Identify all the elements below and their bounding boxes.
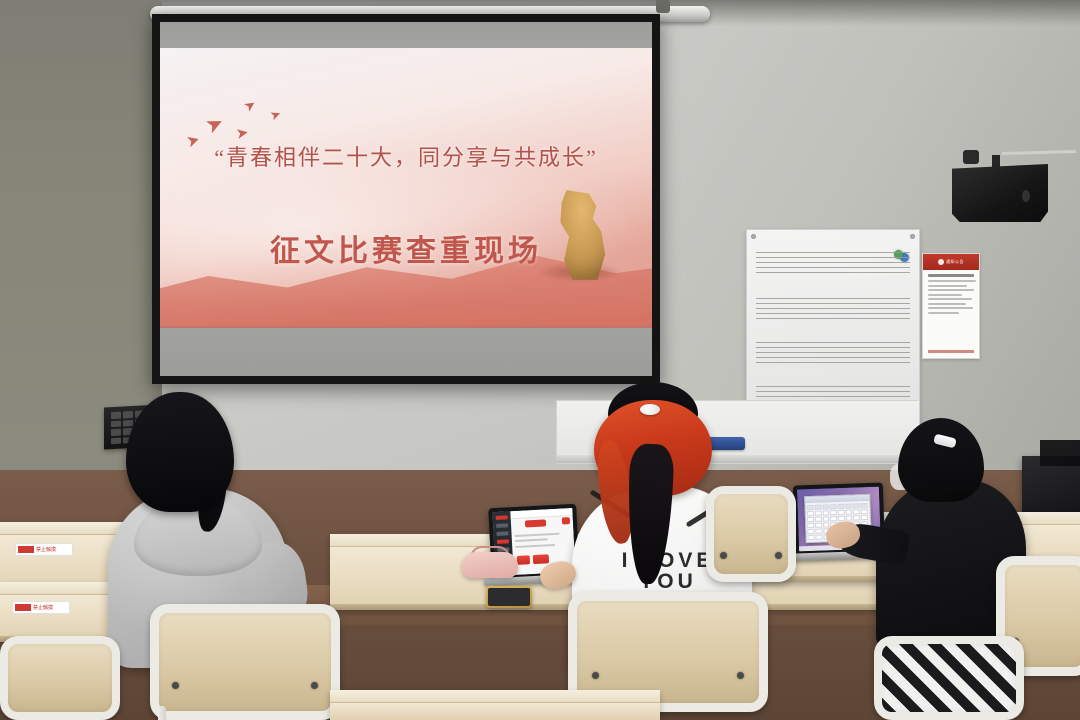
screen-surface: ➤ ➤ ➤ ➤ ➤ “青春相伴二十大，同分享与共成长” 征文比赛查重现场	[160, 22, 652, 376]
poster-logo-icon	[938, 259, 944, 265]
speaker-mount	[963, 150, 979, 164]
projected-slide: ➤ ➤ ➤ ➤ ➤ “青春相伴二十大，同分享与共成长” 征文比赛查重现场	[160, 48, 652, 326]
projector-screen: ➤ ➤ ➤ ➤ ➤ “青春相伴二十大，同分享与共成长” 征文比赛查重现场	[152, 14, 660, 384]
bird-icon: ➤	[202, 111, 227, 138]
desk-label: 禁止触摸	[15, 543, 73, 556]
screen-blank-top	[160, 22, 652, 48]
stave-group	[756, 298, 910, 323]
pink-pouch[interactable]	[462, 552, 518, 578]
classroom-photo: ➤ ➤ ➤ ➤ ➤ “青春相伴二十大，同分享与共成长” 征文比赛查重现场	[0, 0, 1080, 720]
web-action-button[interactable]	[517, 555, 530, 565]
poster-header-text: 通知公告	[946, 259, 964, 265]
desk-foreground	[330, 690, 660, 720]
speaker-cone	[1022, 190, 1030, 202]
board-screw	[751, 234, 756, 239]
web-badge[interactable]	[562, 517, 570, 524]
poster-title-bar	[928, 274, 974, 277]
phone-screen	[488, 588, 530, 606]
web-badge[interactable]	[525, 520, 546, 528]
wall-speaker	[952, 164, 1048, 222]
poster-header: 通知公告	[923, 254, 979, 270]
phone[interactable]	[486, 586, 532, 608]
hair-clip	[640, 404, 660, 415]
chair-front-left[interactable]	[0, 636, 120, 720]
poster-footer-bar	[928, 350, 974, 353]
slide-title: “青春相伴二十大，同分享与共成长”	[160, 140, 652, 172]
chair-left[interactable]	[150, 604, 340, 720]
bird-icon: ➤	[268, 106, 283, 122]
chair-leg	[158, 706, 166, 720]
wall-poster: 通知公告	[922, 253, 980, 359]
bird-icon: ➤	[241, 96, 259, 114]
stave-group	[756, 252, 910, 277]
chair-back-center[interactable]	[706, 486, 796, 582]
stave-group	[756, 342, 910, 367]
web-action-button[interactable]	[533, 554, 549, 564]
slide-subtitle: 征文比赛查重现场	[160, 226, 652, 270]
speaker-mount-arm	[992, 155, 1000, 167]
board-screw	[910, 234, 915, 239]
screen-blank-bottom	[160, 328, 652, 376]
desk-label: 禁止触摸	[12, 601, 70, 614]
chair-front-right[interactable]	[874, 636, 1024, 720]
screen-bracket	[656, 0, 670, 13]
